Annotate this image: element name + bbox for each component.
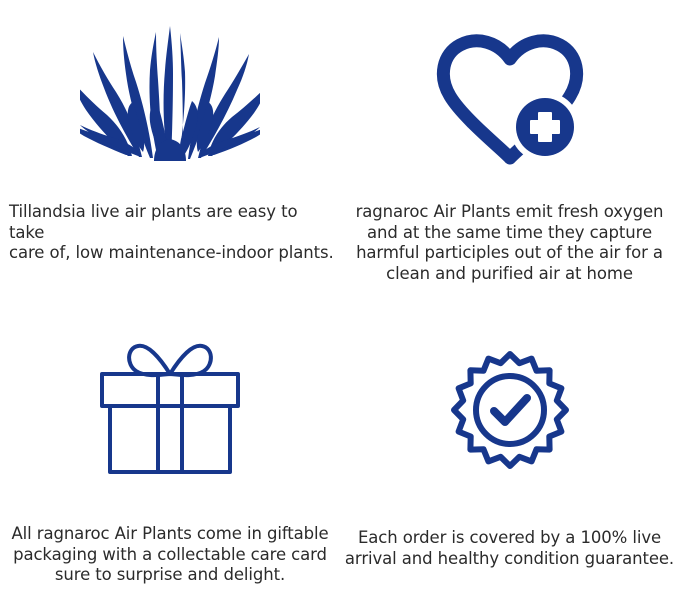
bow-loop-left: [129, 346, 170, 375]
feature-cell-plant: Tillandsia live air plants are easy to t…: [0, 0, 340, 308]
gift-body: [110, 406, 230, 472]
seal-inner-circle: [476, 376, 544, 444]
guarantee-seal-check-icon: [446, 350, 574, 480]
feature-caption-gift: All ragnaroc Air Plants come in giftable…: [0, 524, 341, 586]
seal-starburst-outline: [454, 354, 566, 466]
feature-cell-gift: All ragnaroc Air Plants come in giftable…: [0, 308, 340, 616]
icon-well-plant: [0, 0, 340, 168]
feature-caption-guarantee: Each order is covered by a 100% live arr…: [339, 528, 679, 569]
icon-well-guarantee: [340, 308, 679, 480]
feature-caption-plant: Tillandsia live air plants are easy to t…: [9, 202, 335, 264]
heart-plus-icon: [435, 32, 585, 168]
feature-cell-oxygen: ragnaroc Air Plants emit fresh oxygen an…: [340, 0, 679, 308]
icon-well-oxygen: [340, 0, 679, 168]
gift-lid: [102, 374, 238, 406]
feature-cell-guarantee: Each order is covered by a 100% live arr…: [340, 308, 679, 616]
bow-loop-right: [170, 346, 211, 375]
check-glyph: [494, 398, 527, 422]
gift-box-icon: [94, 336, 246, 476]
air-plant-icon: [80, 18, 260, 168]
feature-caption-oxygen: ragnaroc Air Plants emit fresh oxygen an…: [341, 202, 678, 284]
feature-grid: Tillandsia live air plants are easy to t…: [0, 0, 679, 616]
icon-well-gift: [0, 308, 340, 476]
